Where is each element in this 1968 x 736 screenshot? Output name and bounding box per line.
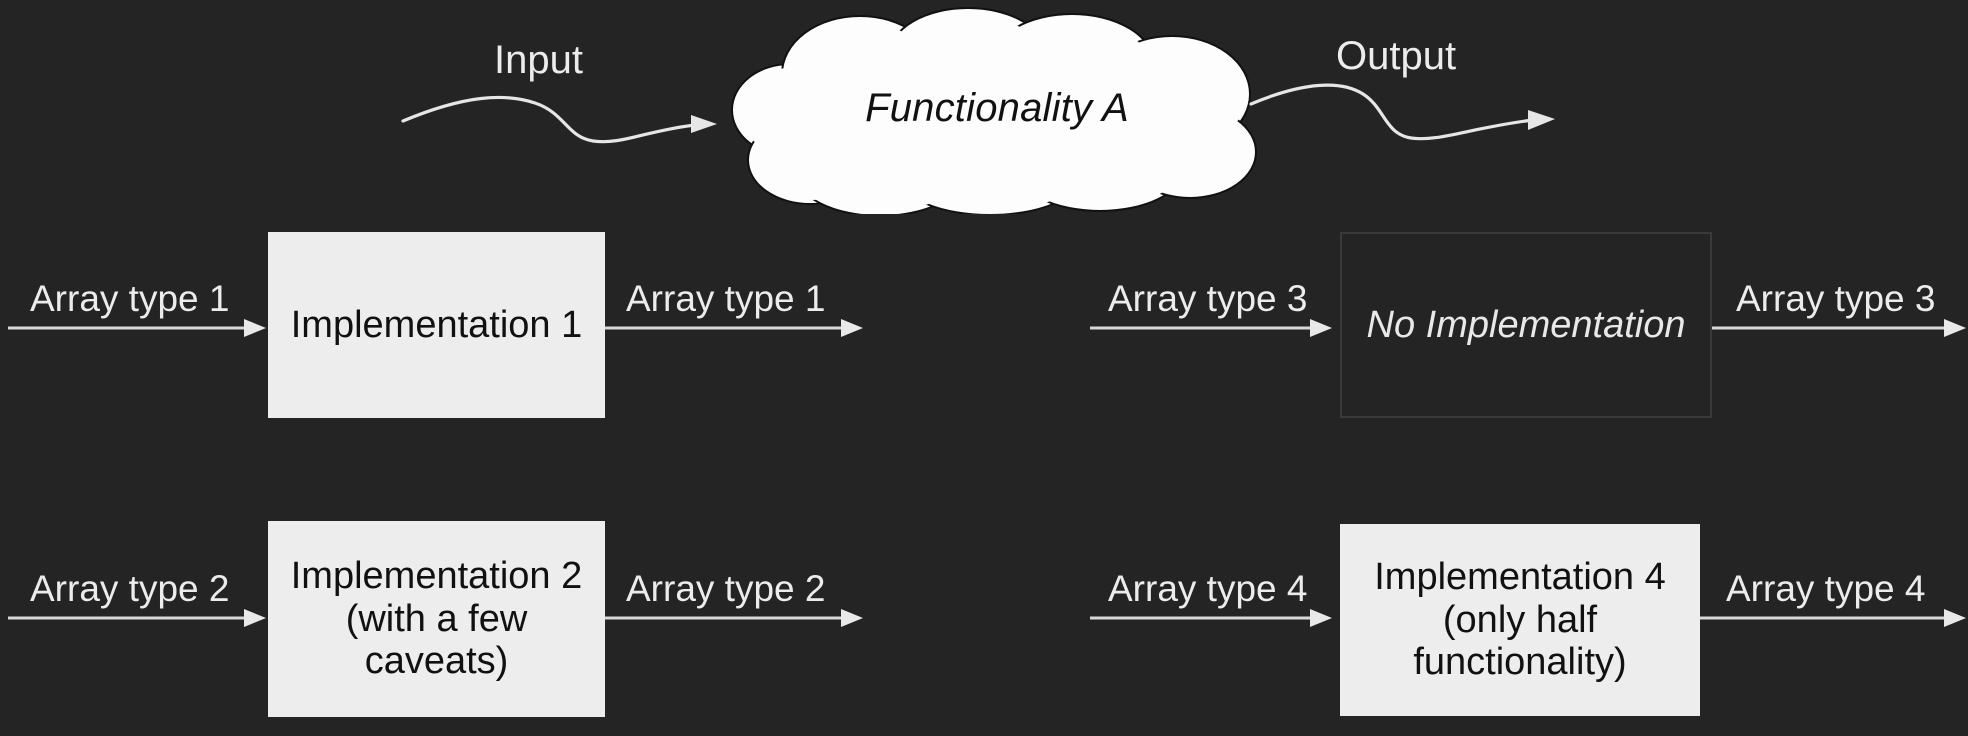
row-impl-4-in-arrow xyxy=(1090,602,1336,634)
row-impl-1-in-arrow xyxy=(8,312,270,344)
implementation-1-box[interactable]: Implementation 1 xyxy=(268,232,605,418)
no-implementation-label: No Implementation xyxy=(1367,304,1686,347)
functionality-cloud: Functionality A xyxy=(700,2,1270,214)
no-implementation-box[interactable]: No Implementation xyxy=(1340,232,1712,418)
implementation-4-label-line-2: (only half xyxy=(1443,599,1597,642)
input-label: Input xyxy=(494,38,583,83)
cloud-shape xyxy=(700,2,1270,214)
implementation-2-box[interactable]: Implementation 2 (with a few caveats) xyxy=(268,521,605,717)
row-impl-2-out-arrow xyxy=(605,602,867,634)
implementation-4-label-line-1: Implementation 4 xyxy=(1374,556,1666,599)
implementation-4-box[interactable]: Implementation 4 (only half functionalit… xyxy=(1340,524,1700,716)
row-no-impl-out-arrow xyxy=(1712,312,1968,344)
diagram-canvas: Input xyxy=(0,0,1968,736)
row-impl-1-out-arrow xyxy=(605,312,867,344)
implementation-2-label-line-1: Implementation 2 xyxy=(291,555,583,598)
row-impl-2-in-arrow xyxy=(8,602,270,634)
implementation-2-label-line-2: (with a few xyxy=(346,598,528,641)
output-label: Output xyxy=(1336,34,1456,79)
row-no-impl-in-arrow xyxy=(1090,312,1336,344)
implementation-4-label-line-3: functionality) xyxy=(1413,641,1626,684)
row-impl-4-out-arrow xyxy=(1700,602,1968,634)
implementation-2-label-line-3: caveats) xyxy=(365,640,509,683)
implementation-1-label: Implementation 1 xyxy=(291,304,583,347)
